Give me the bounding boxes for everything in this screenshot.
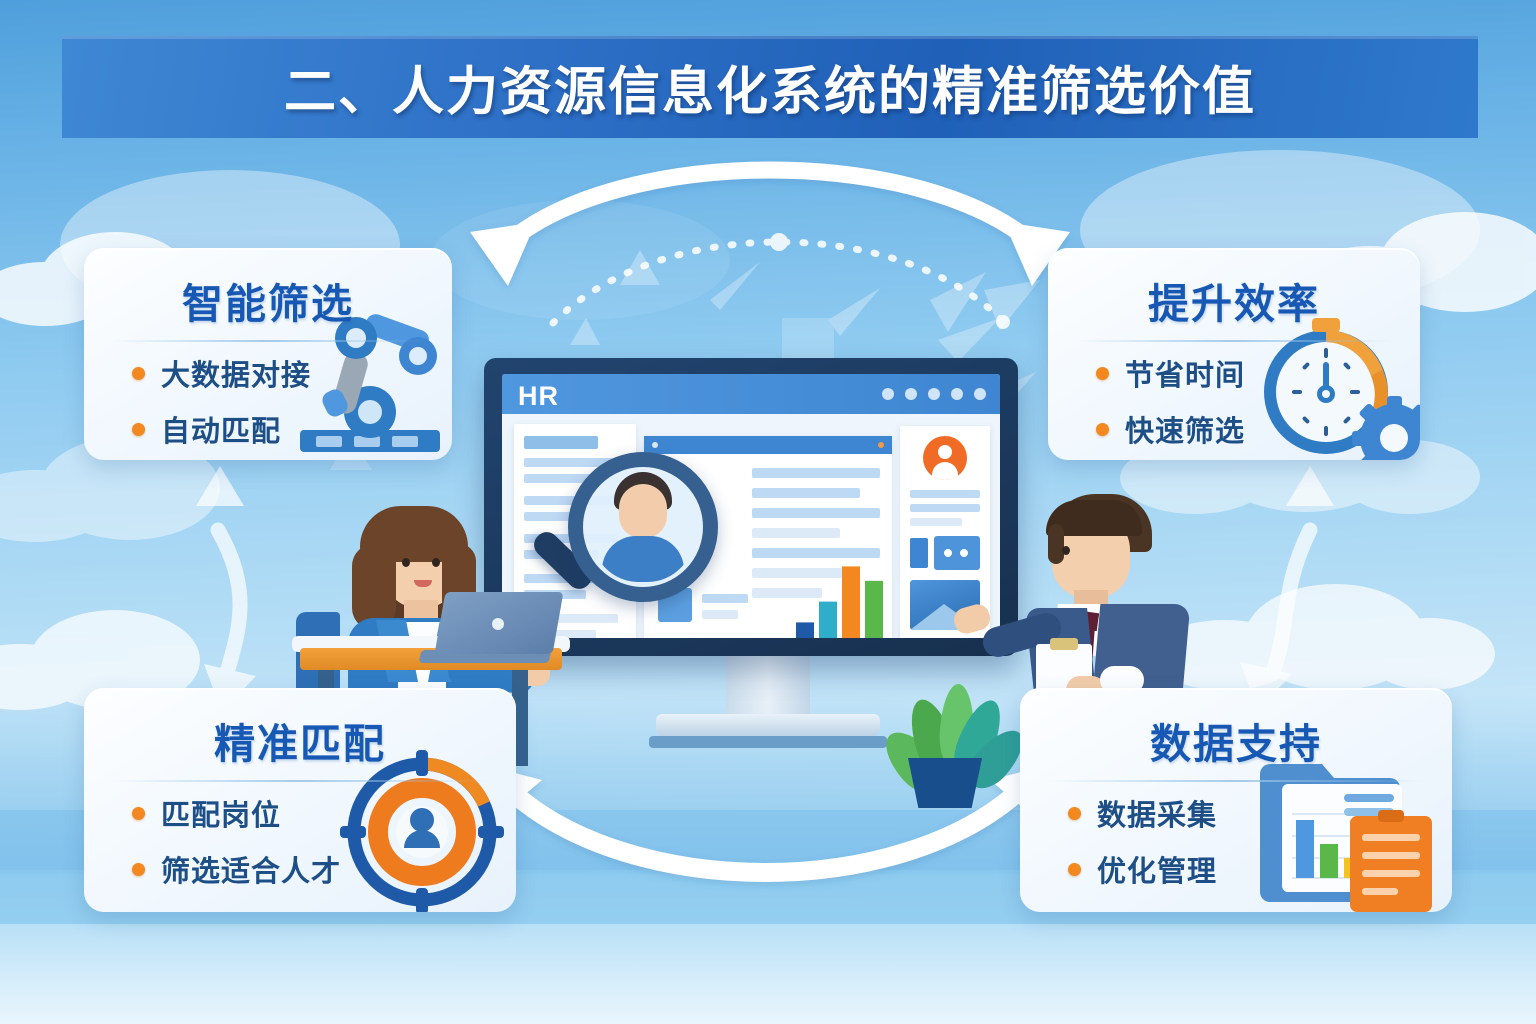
app-title-label: HR (518, 381, 559, 412)
card-title: 数据支持 (1020, 710, 1452, 770)
app-titlebar: HR (502, 374, 1000, 414)
list-item: 匹配岗位 (132, 792, 341, 834)
card-bullet-list: 大数据对接 自动匹配 (132, 352, 311, 460)
bullet-label: 优化管理 (1097, 848, 1217, 890)
user-avatar-icon (923, 436, 967, 480)
card-title: 智能筛选 (84, 270, 452, 330)
list-item: 自动匹配 (132, 408, 311, 450)
bullet-label: 匹配岗位 (161, 792, 281, 834)
bullet-dot-icon (1068, 863, 1081, 876)
card-data-support[interactable]: 数据支持 数据采集 优化管理 (1020, 688, 1452, 912)
card-divider (112, 340, 424, 342)
monitor-stand-shadow (649, 736, 887, 748)
card-title: 提升效率 (1048, 270, 1420, 330)
ground-band (0, 924, 1536, 1024)
card-divider (1076, 340, 1392, 342)
plant-pot (908, 758, 982, 808)
card-divider (1048, 780, 1424, 782)
bullet-label: 自动匹配 (161, 408, 281, 450)
list-item: 筛选适合人才 (132, 848, 341, 890)
card-improve-efficiency[interactable]: 提升效率 节省时间 快速筛选 (1048, 248, 1420, 460)
page-title: 二、人力资源信息化系统的精准筛选价值 (62, 50, 1478, 125)
list-item: 大数据对接 (132, 352, 311, 394)
bullet-dot-icon (1096, 367, 1109, 380)
bullet-label: 筛选适合人才 (161, 848, 341, 890)
monitor-stand-base (656, 714, 880, 736)
card-precise-matching[interactable]: 精准匹配 匹配岗位 筛选适合人才 (84, 688, 516, 912)
list-item: 快速筛选 (1096, 408, 1245, 450)
bullet-dot-icon (132, 807, 145, 820)
list-item: 数据采集 (1068, 792, 1217, 834)
card-title: 精准匹配 (84, 710, 516, 770)
bullet-label: 大数据对接 (161, 352, 311, 394)
cloud-shape (430, 200, 730, 320)
bullet-dot-icon (132, 367, 145, 380)
card-divider (112, 780, 488, 782)
list-item: 节省时间 (1096, 352, 1245, 394)
bar-chart (790, 546, 886, 638)
card-bullet-list: 匹配岗位 筛选适合人才 (132, 792, 341, 904)
bullet-dot-icon (132, 423, 145, 436)
person-hr-manager (1000, 490, 1230, 690)
laptop-logo (492, 618, 504, 630)
card-intelligent-screening[interactable]: 智能筛选 大数据对接 自动匹配 (84, 248, 452, 460)
card-bullet-list: 节省时间 快速筛选 (1096, 352, 1245, 460)
infographic-canvas: 二、人力资源信息化系统的精准筛选价值 HR (0, 0, 1536, 1024)
bullet-dot-icon (1096, 423, 1109, 436)
magnifier-person-icon (568, 452, 718, 602)
bullet-dot-icon (132, 863, 145, 876)
title-banner: 二、人力资源信息化系统的精准筛选价值 (62, 36, 1478, 138)
bullet-label: 节省时间 (1125, 352, 1245, 394)
monitor-stand-neck (726, 656, 810, 718)
bullet-dot-icon (1068, 807, 1081, 820)
bullet-label: 快速筛选 (1125, 408, 1245, 450)
card-bullet-list: 数据采集 优化管理 (1068, 792, 1217, 904)
window-control-dots[interactable] (882, 388, 986, 400)
list-item: 优化管理 (1068, 848, 1217, 890)
gear-shape (1352, 396, 1420, 460)
bullet-label: 数据采集 (1097, 792, 1217, 834)
